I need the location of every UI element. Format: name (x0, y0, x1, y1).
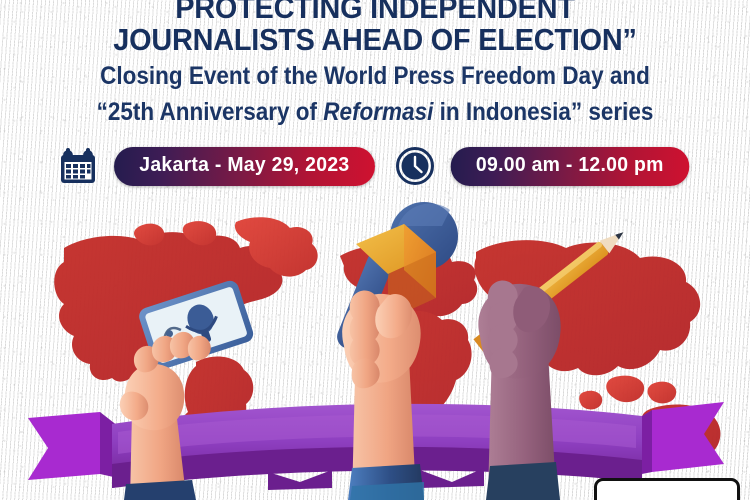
subtitle-line-2: “25th Anniversary of Reformasi in Indone… (38, 94, 713, 130)
date-badge: Jakarta - May 29, 2023 (114, 147, 375, 186)
date-info: Jakarta - May 29, 2023 (58, 146, 379, 186)
subtitle-reformasi-italic: Reformasi (323, 98, 433, 126)
time-info: 09.00 am - 12.00 pm (395, 146, 693, 186)
calendar-icon (58, 146, 98, 186)
title-line-2: JOURNALISTS AHEAD OF ELECTION” (26, 24, 724, 56)
journalism-illustration (0, 196, 750, 500)
poster-title: PROTECTING INDEPENDENT JOURNALISTS AHEAD… (0, 0, 750, 56)
event-info-row: Jakarta - May 29, 2023 09.00 am - 12.00 … (0, 146, 750, 186)
clock-icon (395, 146, 435, 186)
subtitle-line-2-prefix: “25th Anniversary of (97, 98, 324, 126)
title-line-1: PROTECTING INDEPENDENT (26, 0, 724, 24)
time-badge: 09.00 am - 12.00 pm (450, 147, 688, 186)
subtitle-line-1: Closing Event of the World Press Freedom… (38, 58, 713, 94)
bottom-right-card[interactable] (594, 478, 740, 500)
poster-subtitle: Closing Event of the World Press Freedom… (0, 58, 750, 130)
subtitle-line-2-suffix: in Indonesia” series (433, 98, 653, 126)
event-poster: PROTECTING INDEPENDENT JOURNALISTS AHEAD… (0, 0, 750, 500)
